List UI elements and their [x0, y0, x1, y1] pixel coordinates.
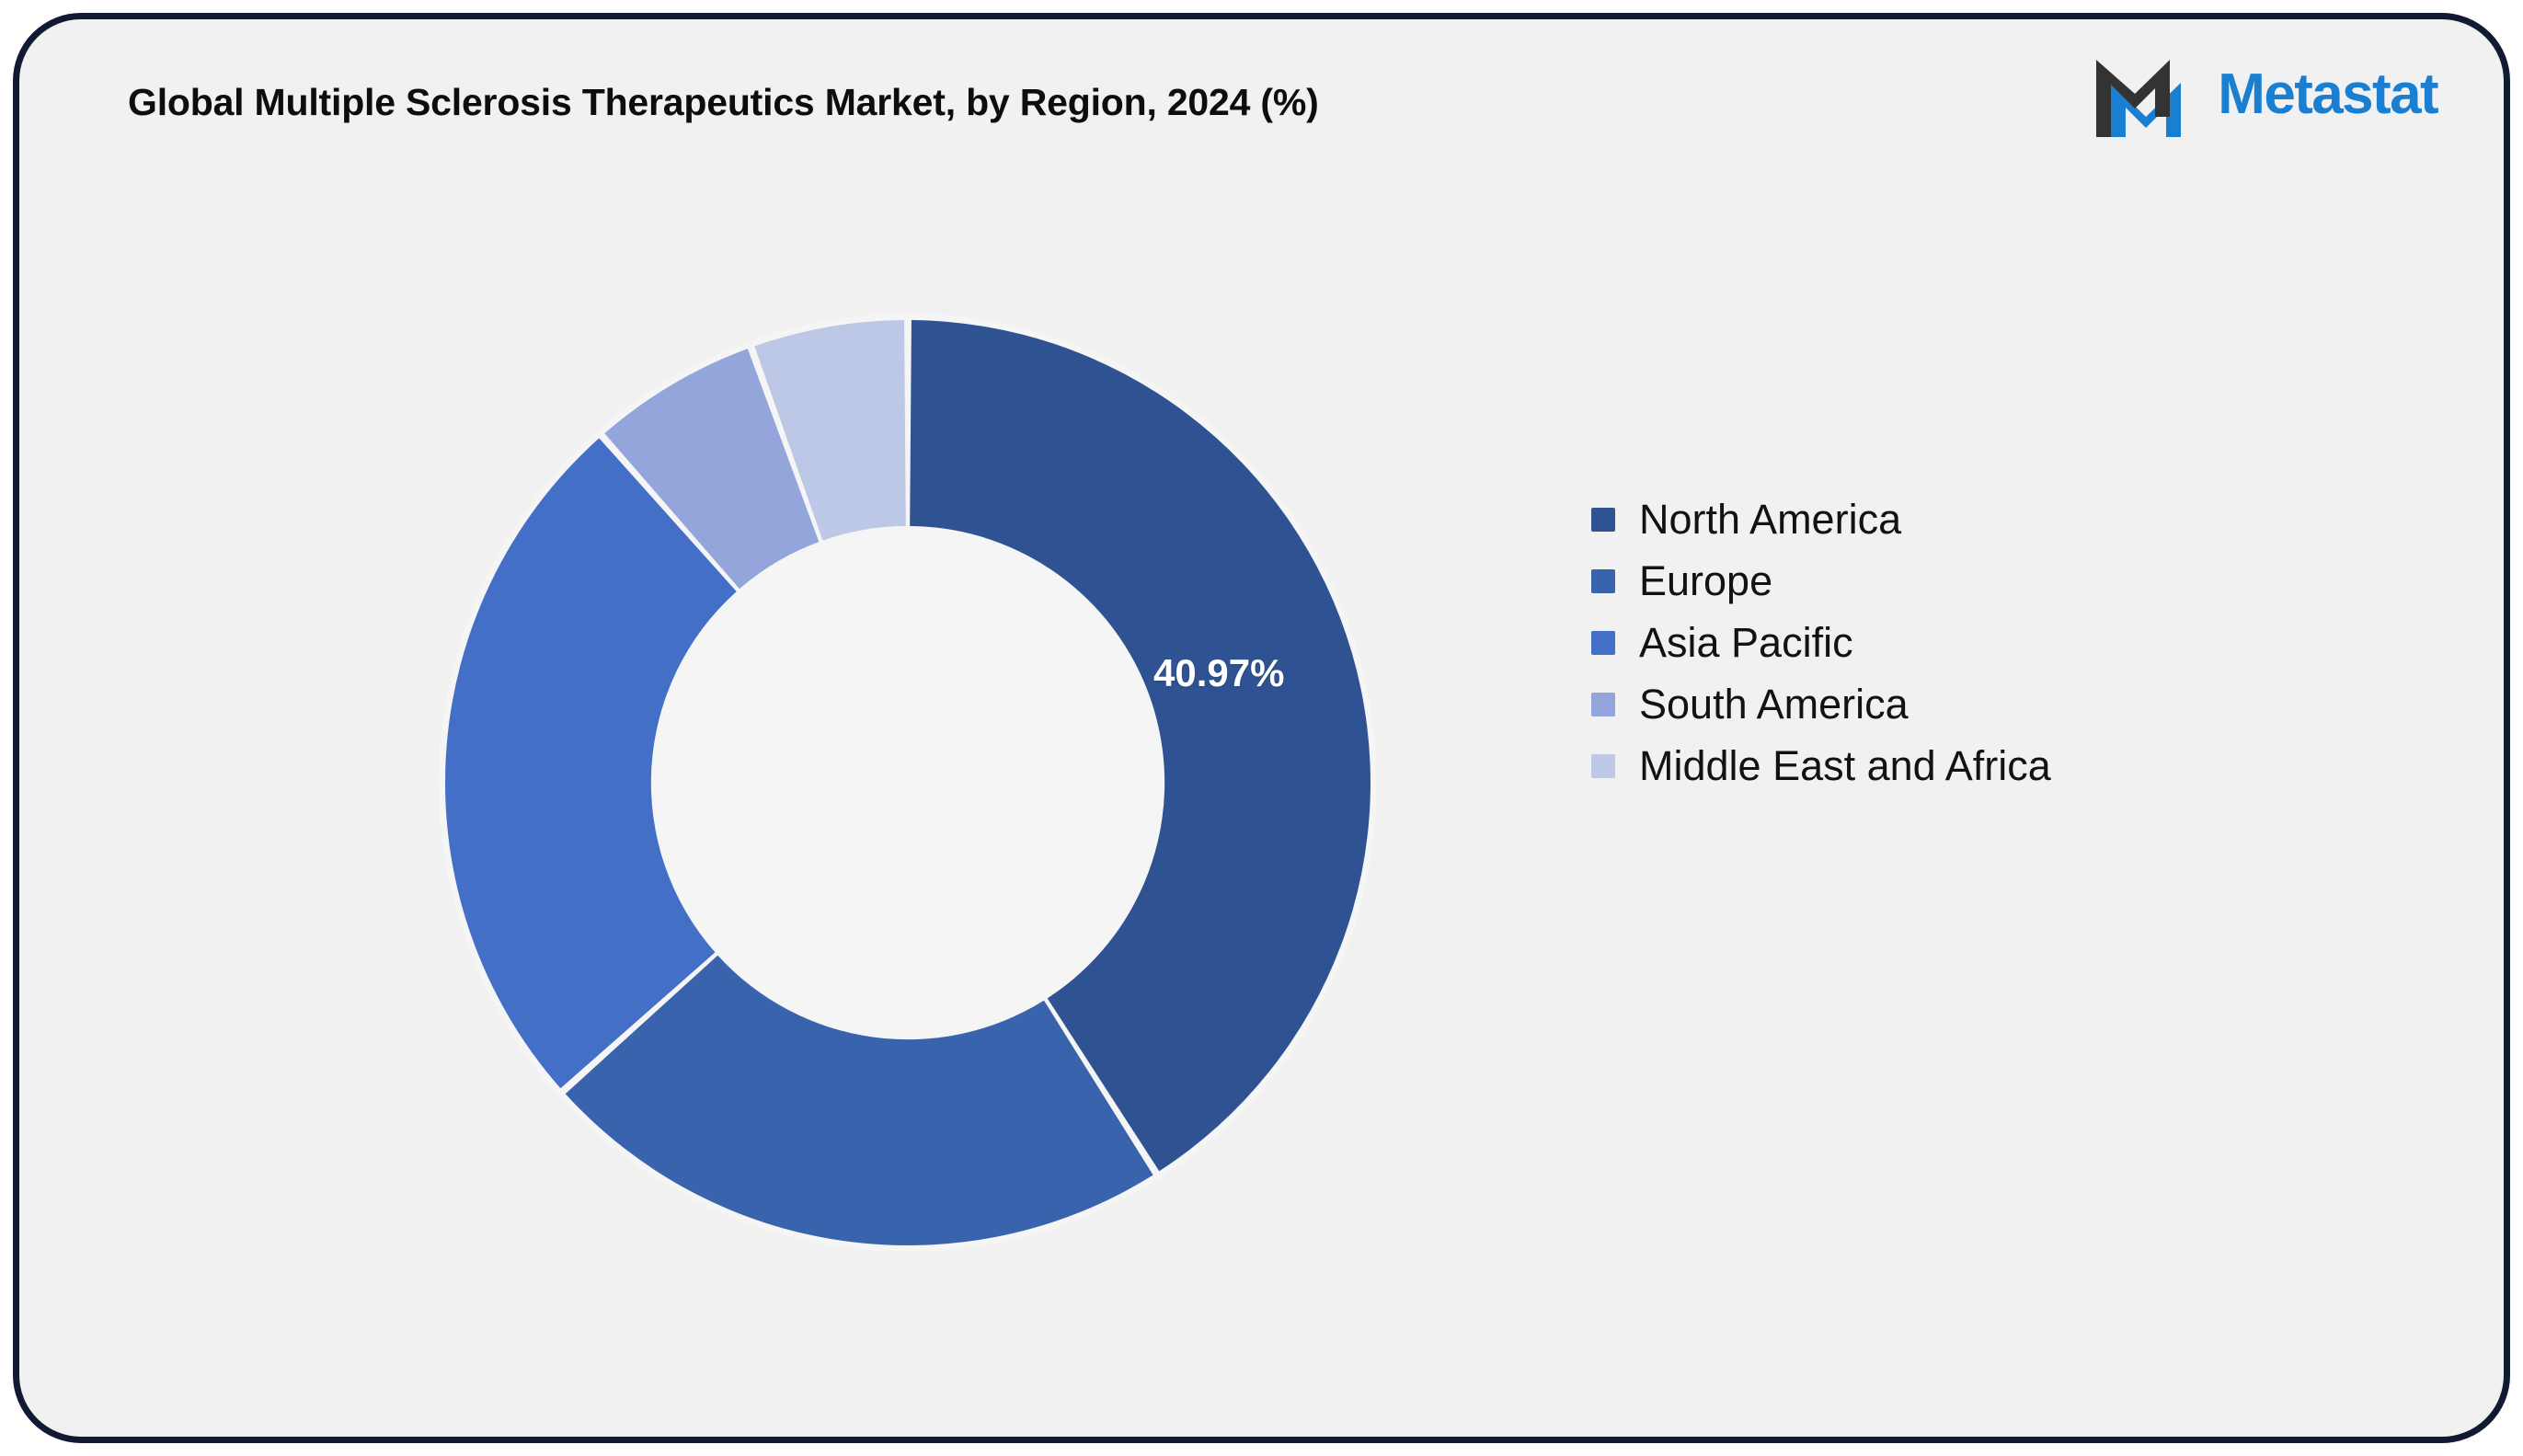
metastat-m-logo-icon	[2087, 52, 2205, 137]
legend-item-label: Middle East and Africa	[1639, 745, 2051, 786]
legend-item-label: North America	[1639, 499, 1901, 540]
legend-item-asia-pacific[interactable]: Asia Pacific	[1591, 621, 2051, 664]
legend-item-label: Asia Pacific	[1639, 622, 1853, 663]
legend-item-north-america[interactable]: North America	[1591, 498, 2051, 541]
legend-swatch-icon	[1591, 508, 1615, 532]
brand-wordmark: Metastat	[2218, 66, 2437, 123]
donut-chart-svg	[429, 304, 1387, 1262]
chart-card: Global Multiple Sclerosis Therapeutics M…	[13, 13, 2510, 1443]
page-title: Global Multiple Sclerosis Therapeutics M…	[128, 81, 1319, 124]
brand-logo: Metastat	[2087, 52, 2437, 137]
donut-slices	[439, 314, 1377, 1252]
legend-swatch-icon	[1591, 569, 1615, 593]
legend-item-europe[interactable]: Europe	[1591, 559, 2051, 602]
legend-swatch-icon	[1591, 693, 1615, 717]
legend-item-label: Europe	[1639, 560, 1772, 602]
legend-item-label: South America	[1639, 683, 1909, 725]
slice-data-label-north-america: 40.97%	[1153, 651, 1284, 695]
donut-chart	[429, 304, 1387, 1262]
chart-legend: North America Europe Asia Pacific South …	[1591, 498, 2051, 787]
legend-item-south-america[interactable]: South America	[1591, 682, 2051, 726]
legend-swatch-icon	[1591, 631, 1615, 655]
legend-item-middle-east-and-africa[interactable]: Middle East and Africa	[1591, 744, 2051, 787]
legend-swatch-icon	[1591, 754, 1615, 778]
